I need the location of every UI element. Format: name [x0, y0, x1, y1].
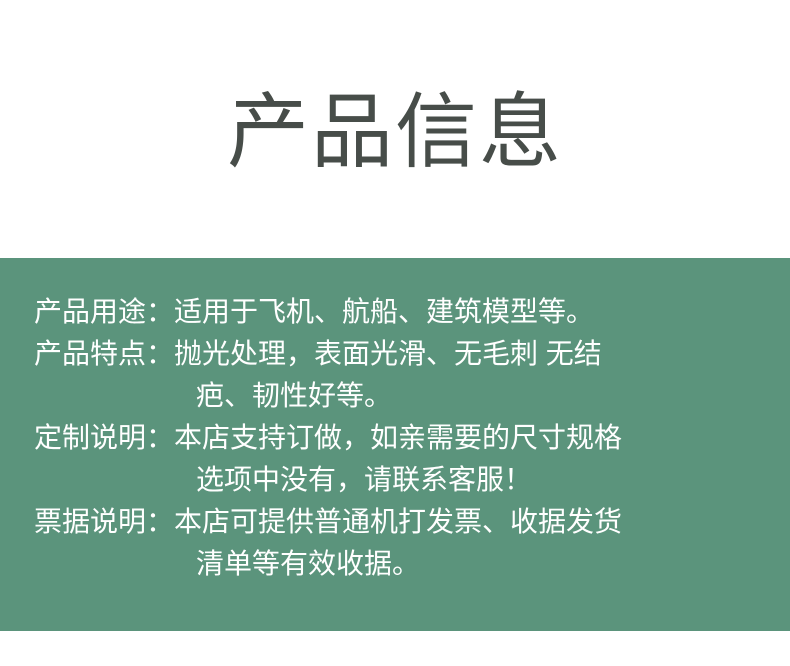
info-line: 产品特点：抛光处理，表面光滑、无毛刺 无结: [0, 333, 790, 375]
info-line: 票据说明：本店可提供普通机打发票、收据发货: [0, 501, 790, 543]
product-info-panel: 产品用途：适用于飞机、航船、建筑模型等。产品特点：抛光处理，表面光滑、无毛刺 无…: [0, 258, 790, 631]
bottom-spacer: [0, 631, 790, 666]
info-line-continuation: 疤、韧性好等。: [0, 375, 790, 417]
page-title: 产品信息: [227, 84, 563, 174]
info-line: 定制说明：本店支持订做，如亲需要的尺寸规格: [0, 417, 790, 459]
title-banner: 产品信息: [0, 0, 790, 258]
product-info-list: 产品用途：适用于飞机、航船、建筑模型等。产品特点：抛光处理，表面光滑、无毛刺 无…: [0, 291, 790, 585]
info-line-continuation: 选项中没有，请联系客服！: [0, 459, 790, 501]
info-line: 产品用途：适用于飞机、航船、建筑模型等。: [0, 291, 790, 333]
info-line-continuation: 清单等有效收据。: [0, 543, 790, 585]
product-info-page: 产品信息 产品用途：适用于飞机、航船、建筑模型等。产品特点：抛光处理，表面光滑、…: [0, 0, 790, 666]
